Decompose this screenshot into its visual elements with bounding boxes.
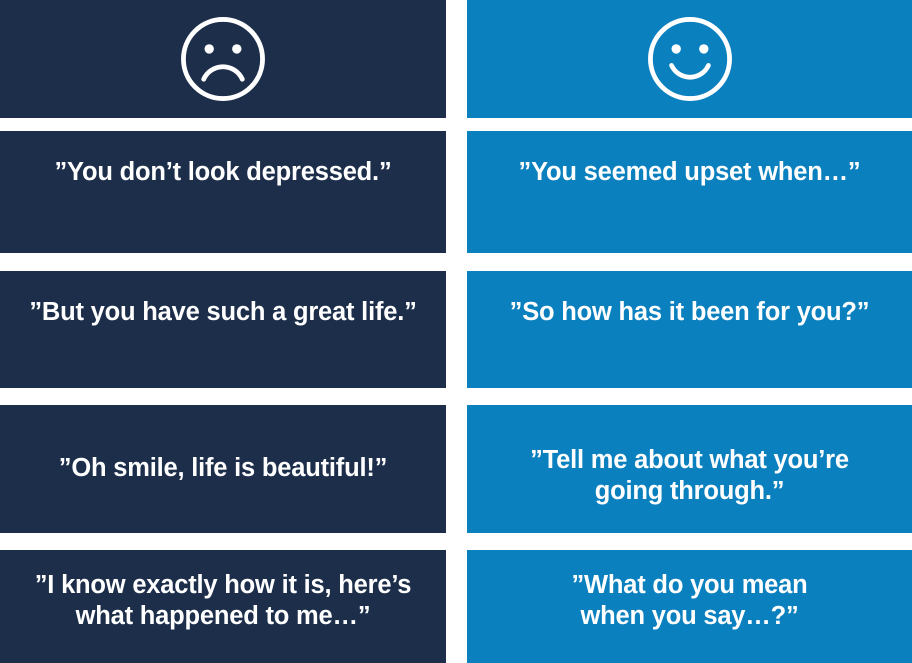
unhelpful-quote-panel-3: ”Oh smile, life is beautiful!” — [0, 405, 446, 533]
helpful-quote-panel-2: ”So how has it been for you?” — [467, 271, 912, 388]
unhelpful-quote-2: ”But you have such a great life.” — [0, 271, 446, 388]
helpful-icon-panel — [467, 0, 912, 118]
helpful-quote-panel-4: ”What do you mean when you say…?” — [467, 550, 912, 663]
unhelpful-quote-3: ”Oh smile, life is beautiful!” — [0, 405, 446, 533]
sad-face-icon — [0, 0, 446, 118]
helpful-quote-4: ”What do you mean when you say…?” — [467, 550, 912, 663]
unhelpful-quote-panel-1: ”You don’t look depressed.” — [0, 131, 446, 253]
unhelpful-icon-panel — [0, 0, 446, 118]
happy-face-icon — [467, 0, 912, 118]
helpful-responses-column: ”You seemed upset when…” ”So how has it … — [467, 0, 912, 663]
unhelpful-quote-1: ”You don’t look depressed.” — [0, 131, 446, 253]
helpful-quote-panel-1: ”You seemed upset when…” — [467, 131, 912, 253]
comparison-board: ”You don’t look depressed.” ”But you hav… — [0, 0, 912, 663]
unhelpful-quote-panel-4: ”I know exactly how it is, here’s what h… — [0, 550, 446, 663]
unhelpful-responses-column: ”You don’t look depressed.” ”But you hav… — [0, 0, 446, 663]
unhelpful-quote-4: ”I know exactly how it is, here’s what h… — [0, 550, 446, 663]
helpful-quote-1: ”You seemed upset when…” — [467, 131, 912, 253]
helpful-quote-panel-3: ”Tell me about what you’re going through… — [467, 405, 912, 533]
helpful-quote-3: ”Tell me about what you’re going through… — [467, 405, 912, 533]
unhelpful-quote-panel-2: ”But you have such a great life.” — [0, 271, 446, 388]
helpful-quote-2: ”So how has it been for you?” — [467, 271, 912, 388]
